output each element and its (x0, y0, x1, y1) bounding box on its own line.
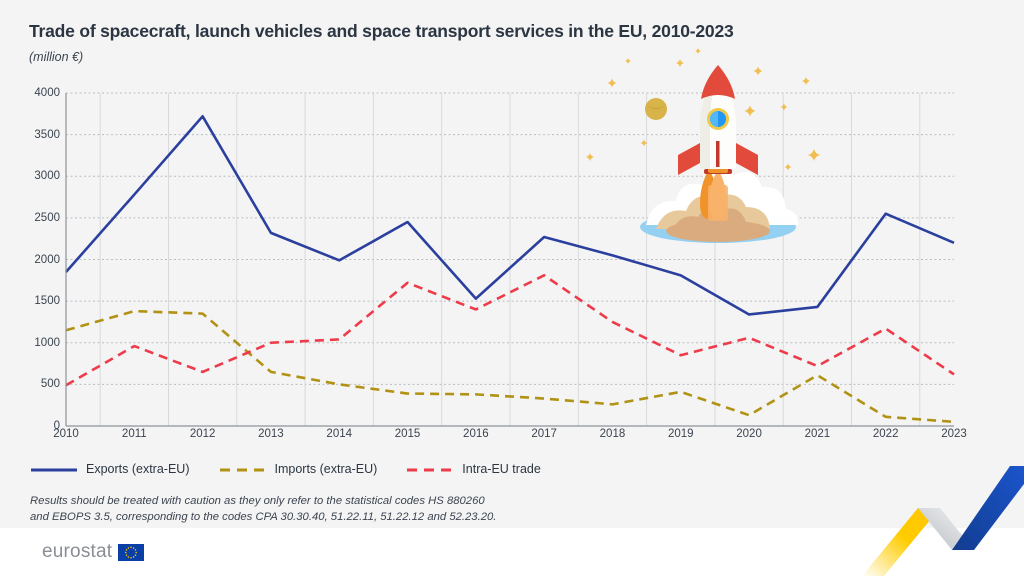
line-chart-svg (66, 93, 954, 426)
ribbon-blue (952, 466, 1024, 550)
x-axis-tick-2015: 2015 (395, 428, 421, 440)
legend-label-1: Imports (extra-EU) (275, 462, 378, 476)
legend-swatch-2 (407, 463, 453, 475)
rocket-fin-right (736, 143, 758, 175)
legend-label-2: Intra-EU trade (462, 462, 541, 476)
chart-plot-area (66, 93, 954, 426)
x-axis-tick-2023: 2023 (941, 428, 967, 440)
x-axis-tick-2012: 2012 (190, 428, 216, 440)
chart-unit-label: (million €) (29, 50, 83, 64)
ribbon-svg (862, 466, 1024, 576)
sparkle-star-5 (781, 104, 788, 111)
legend-swatch-1 (220, 463, 266, 475)
chart-footnote: Results should be treated with caution a… (30, 493, 590, 526)
x-axis-tick-2010: 2010 (53, 428, 79, 440)
eurostat-logo: eurostat (42, 541, 144, 563)
x-axis-tick-2013: 2013 (258, 428, 284, 440)
eurostat-logo-text: eurostat (42, 541, 112, 563)
y-axis-tick-0: 0 (0, 420, 60, 432)
rocket-fin-left (678, 143, 700, 175)
x-axis-tick-2016: 2016 (463, 428, 489, 440)
y-axis-tick-2000: 2000 (0, 254, 60, 266)
x-axis-tick-2014: 2014 (326, 428, 352, 440)
cloud-shadow (666, 220, 770, 242)
x-axis-tick-2018: 2018 (600, 428, 626, 440)
x-axis-tick-2019: 2019 (668, 428, 694, 440)
legend-item-0[interactable]: Exports (extra-EU) (31, 462, 190, 476)
y-axis-tick-1000: 1000 (0, 337, 60, 349)
legend-item-1[interactable]: Imports (extra-EU) (220, 462, 378, 476)
footnote-line-1: Results should be treated with caution a… (30, 493, 590, 509)
footnote-line-2: and EBOPS 3.5, corresponding to the code… (30, 509, 590, 525)
y-axis-tick-500: 500 (0, 378, 60, 390)
eu-flag-stars (118, 544, 144, 561)
y-axis-labels: 05001000150020002500300035004000 (0, 93, 60, 426)
sparkle-star-10 (785, 164, 792, 171)
chart-legend: Exports (extra-EU)Imports (extra-EU)Intr… (31, 462, 571, 476)
legend-item-2[interactable]: Intra-EU trade (407, 462, 541, 476)
sparkle-star-2 (586, 153, 594, 161)
x-axis-tick-2021: 2021 (805, 428, 831, 440)
y-axis-tick-2500: 2500 (0, 212, 60, 224)
page-title: Trade of spacecraft, launch vehicles and… (29, 21, 734, 42)
x-axis-tick-2022: 2022 (873, 428, 899, 440)
legend-swatch-0 (31, 463, 77, 475)
eu-flag-icon (118, 544, 144, 561)
sparkle-star-8 (808, 149, 820, 161)
chart-page: Trade of spacecraft, launch vehicles and… (0, 0, 1024, 576)
x-axis-tick-2020: 2020 (736, 428, 762, 440)
x-axis-tick-2017: 2017 (531, 428, 557, 440)
y-axis-tick-1500: 1500 (0, 295, 60, 307)
y-axis-tick-4000: 4000 (0, 87, 60, 99)
x-axis-labels: 2010201120122013201420152016201720182019… (66, 428, 954, 450)
rocket-stripe (716, 141, 720, 167)
x-axis-tick-2011: 2011 (122, 428, 147, 440)
legend-label-0: Exports (extra-EU) (86, 462, 190, 476)
y-axis-tick-3000: 3000 (0, 170, 60, 182)
sparkle-star-7 (745, 106, 756, 117)
eurostat-corner-ribbon (862, 466, 1024, 576)
y-axis-tick-3500: 3500 (0, 129, 60, 141)
rocket-flame-core (708, 185, 728, 221)
